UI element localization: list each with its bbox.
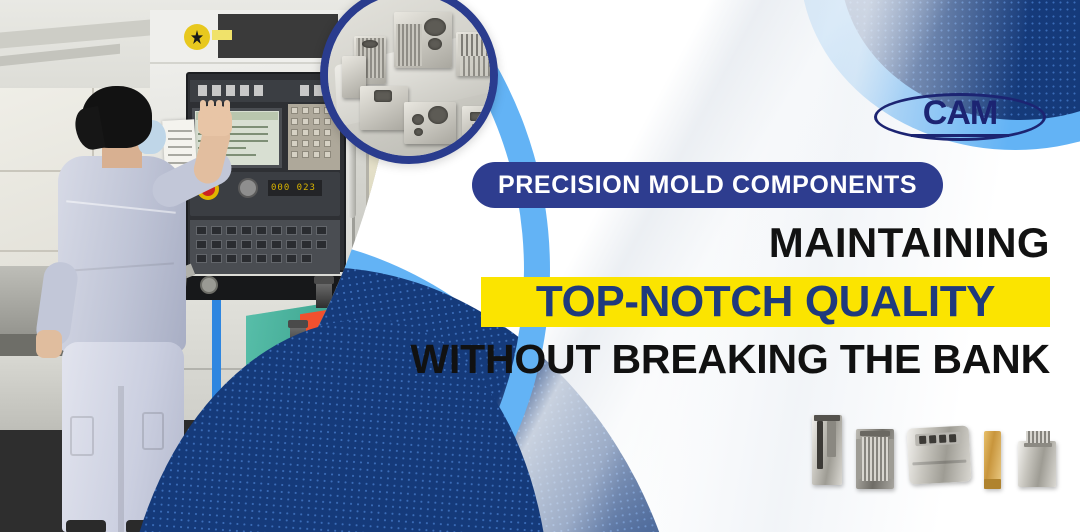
- logo-underline: [911, 134, 1009, 137]
- product-mold-insert-4-copper: [984, 431, 1001, 489]
- inset-photo-mold-components: [320, 0, 498, 164]
- inset-part-fins: [396, 24, 422, 66]
- product-mold-insert-2: [856, 429, 894, 489]
- brand-logo-cam[interactable]: CAM: [866, 88, 1054, 148]
- logo-text: CAM: [866, 96, 1054, 130]
- product-mold-insert-5: [1018, 441, 1056, 487]
- headline-highlight-band: TOP-NOTCH QUALITY: [481, 277, 1050, 327]
- inset-part-hole: [428, 38, 442, 50]
- inset-part-hole: [424, 18, 446, 36]
- product-showcase-row: [812, 415, 1060, 493]
- eyebrow-badge-precision-mold-components: PRECISION MOLD COMPONENTS: [472, 162, 943, 208]
- headline-line-3: WITHOUT BREAKING THE BANK: [410, 339, 1050, 380]
- inset-part-pins: [458, 34, 498, 56]
- headline-line-2: TOP-NOTCH QUALITY: [536, 280, 995, 324]
- marketing-banner: 000 023: [0, 0, 1080, 532]
- headline-line-1: MAINTAINING: [769, 222, 1050, 264]
- product-mold-insert-3: [907, 425, 972, 484]
- product-mold-insert-1: [812, 415, 842, 485]
